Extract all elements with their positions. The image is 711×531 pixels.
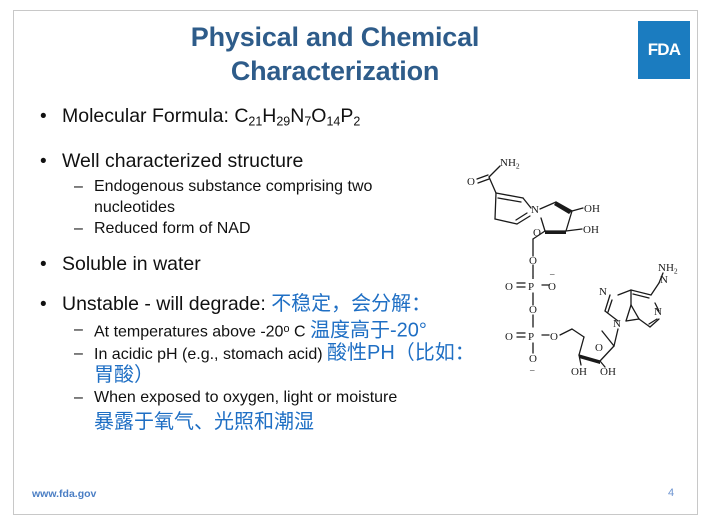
sub-bullet-reduced-nad: – Reduced form of NAD: [32, 218, 482, 239]
formula-C: C: [234, 105, 248, 127]
label-o-link-1: O: [529, 255, 537, 267]
spacer: [32, 279, 482, 292]
label-oh-1: OH: [584, 203, 600, 215]
label-o-carbonyl: O: [467, 176, 475, 188]
formula-P: P: [340, 105, 353, 127]
label-o-p2-double: O: [505, 331, 513, 343]
label-n-adenine-1: N: [599, 286, 607, 298]
title-line-2: Characterization: [55, 54, 615, 88]
formula-O-sub: 14: [326, 114, 340, 128]
label-nh2-adenine: NH2: [658, 262, 678, 276]
sub-bullet-temperature: – At temperatures above -20o C 温度高于-20°: [32, 319, 482, 343]
bullet-molecular-formula: • Molecular Formula: C21H29N7O14P2: [32, 104, 482, 134]
label-nh2-nicotinamide: NH2: [500, 157, 520, 171]
bullet-4-label-chinese: 不稳定，会分解：: [271, 293, 431, 315]
spacer: [32, 136, 482, 149]
sub-bullet-endogenous-line2: nucleotides: [94, 199, 175, 216]
page-title: Physical and Chemical Characterization: [55, 20, 615, 88]
footer-page-number: 4: [668, 487, 674, 499]
formula-C-sub: 21: [248, 114, 262, 128]
label-oh-2: OH: [583, 224, 599, 236]
formula-N: N: [290, 105, 304, 127]
slide-body: • Molecular Formula: C21H29N7O14P2 • Wel…: [32, 104, 482, 436]
dash-glyph-icon: –: [74, 319, 83, 340]
sub-bullet-endogenous: – Endogenous substance comprising two: [32, 176, 482, 197]
bullet-glyph-icon: •: [40, 149, 47, 174]
label-n-adenine-4: N: [654, 306, 662, 318]
sub-bullet-temperature-chinese: 温度高于-20°: [310, 320, 427, 342]
label-o-bridge: O: [529, 304, 537, 316]
sub-bullet-oxygen-light-chinese: 暴露于氧气、光照和潮湿: [32, 408, 482, 436]
label-o-p2-minus: O: [529, 353, 537, 365]
formula-H-sub: 29: [276, 114, 290, 128]
temperature-unit: C: [290, 324, 310, 341]
bullet-unstable-degrade: • Unstable - will degrade: 不稳定，会分解：: [32, 292, 482, 317]
bullet-glyph-icon: •: [40, 252, 47, 277]
label-o-ribose-adenosine: O: [595, 342, 603, 354]
formula-P-sub: 2: [353, 114, 360, 128]
label-o-p1-double: O: [505, 281, 513, 293]
label-oh-3: OH: [571, 366, 587, 375]
label-n-adenine-2: N: [613, 318, 621, 330]
bullet-glyph-icon: •: [40, 104, 47, 129]
spacer: [32, 239, 482, 252]
sub-bullet-endogenous-line1: Endogenous substance comprising two: [94, 178, 372, 195]
bullet-glyph-icon: •: [40, 292, 47, 317]
sub-bullet-acidic-ph: – In acidic pH (e.g., stomach acid) 酸性PH…: [32, 343, 482, 387]
bullet-2-label: Well characterized structure: [62, 150, 303, 172]
bullet-3-label: Soluble in water: [62, 253, 201, 275]
sub-bullet-reduced-nad-text: Reduced form of NAD: [94, 220, 251, 237]
formula-O: O: [311, 105, 326, 127]
sub-bullet-endogenous-wrap: nucleotides: [32, 197, 482, 218]
title-line-1: Physical and Chemical: [55, 20, 615, 54]
sub-bullet-temperature-text: At temperatures above -20: [94, 324, 283, 341]
bullet-1-label: Molecular Formula:: [62, 105, 234, 127]
bullet-4-label: Unstable - will degrade:: [62, 293, 271, 315]
bullet-well-characterized: • Well characterized structure: [32, 149, 482, 174]
dash-glyph-icon: –: [74, 218, 83, 239]
fda-logo: FDA: [638, 21, 690, 79]
formula-H: H: [262, 105, 276, 127]
label-n-adenine-3: N: [660, 274, 668, 286]
label-minus-1: –: [549, 269, 555, 279]
label-minus-2: –: [529, 365, 535, 375]
label-o-p1-single: O: [548, 281, 556, 293]
nadh-structure-diagram: O NH2 N O OH OH O O P O – O O P O O – O …: [455, 143, 695, 375]
label-p1: P: [528, 281, 534, 293]
sub-bullet-oxygen-light: – When exposed to oxygen, light or moist…: [32, 387, 482, 408]
label-n-pyridine: N: [531, 204, 539, 216]
label-o-link-2: O: [550, 331, 558, 343]
label-p2: P: [528, 331, 534, 343]
slide-canvas: Physical and Chemical Characterization F…: [0, 0, 711, 531]
dash-glyph-icon: –: [74, 176, 83, 197]
fda-logo-text: FDA: [648, 40, 681, 60]
sub-bullet-acidic-ph-text: In acidic pH (e.g., stomach acid): [94, 346, 327, 363]
dash-glyph-icon: –: [74, 387, 83, 408]
footer-url[interactable]: www.fda.gov: [32, 488, 96, 500]
bullet-soluble-in-water: • Soluble in water: [32, 252, 482, 277]
dash-glyph-icon: –: [74, 343, 83, 364]
label-o-ribose-nicotinamide: O: [533, 227, 541, 239]
label-oh-4: OH: [600, 366, 616, 375]
sub-bullet-oxygen-light-text: When exposed to oxygen, light or moistur…: [94, 389, 397, 406]
